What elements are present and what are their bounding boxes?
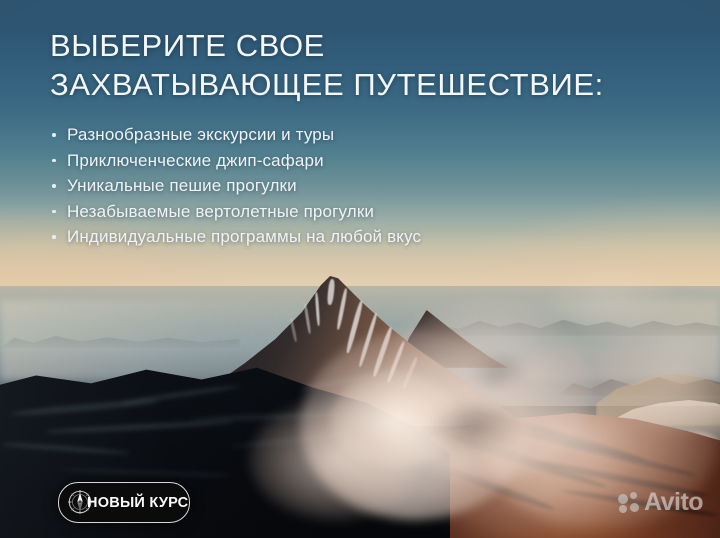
avito-dots-icon: [618, 492, 640, 514]
offer-list: Разнообразные экскурсии и туры Приключен…: [50, 122, 610, 250]
headline-line-1: ВЫБЕРИТЕ СВОЕ: [50, 28, 325, 63]
avito-watermark: Avito: [618, 490, 703, 515]
brand-name: НОВЫЙ КУРС: [87, 483, 188, 522]
travel-promo-banner: ВЫБЕРИТЕ СВОЕ ЗАХВАТЫВАЮЩЕЕ ПУТЕШЕСТВИЕ:…: [0, 0, 720, 538]
page-title: ВЫБЕРИТЕ СВОЕ ЗАХВАТЫВАЮЩЕЕ ПУТЕШЕСТВИЕ:: [50, 26, 680, 104]
list-item: Индивидуальные программы на любой вкус: [50, 224, 610, 250]
brand-logo-badge: НОВЫЙ КУРС: [58, 482, 190, 523]
steam-shadow: [470, 352, 530, 392]
list-item: Приключенческие джип-сафари: [50, 148, 610, 174]
steam-shadow: [398, 358, 468, 406]
steam-shadow: [350, 392, 410, 432]
list-item: Уникальные пешие прогулки: [50, 173, 610, 199]
headline-line-2: ЗАХВАТЫВАЮЩЕЕ ПУТЕШЕСТВИЕ:: [50, 65, 680, 104]
steam-shadow: [430, 400, 520, 456]
avito-wordmark: Avito: [644, 490, 703, 515]
list-item: Разнообразные экскурсии и туры: [50, 122, 610, 148]
list-item: Незабываемые вертолетные прогулки: [50, 199, 610, 225]
